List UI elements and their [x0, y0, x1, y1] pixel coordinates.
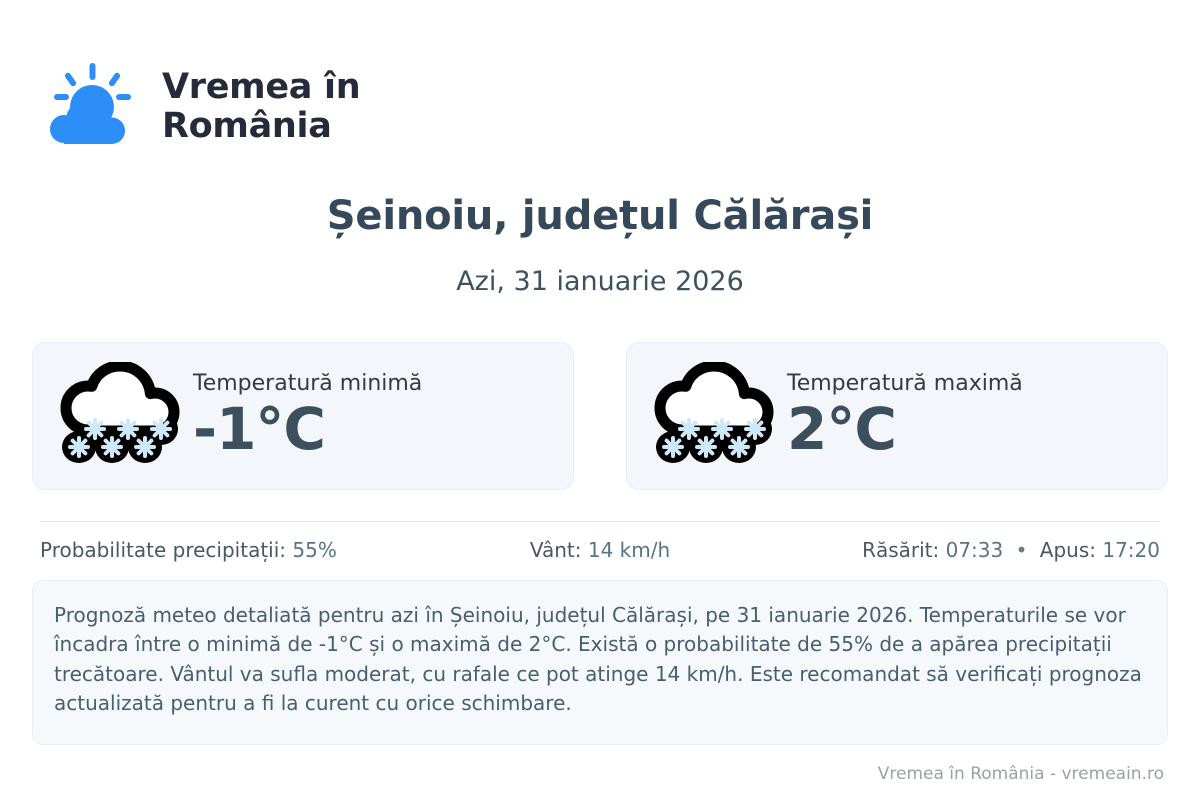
footer-credit: Vremea în România - vremeain.ro [878, 764, 1164, 784]
sun-times-stat: Răsărit: 07:33 • Apus: 17:20 [787, 538, 1160, 562]
sunrise-label: Răsărit: [862, 538, 939, 562]
precipitation-label: Probabilitate precipitații: [40, 538, 286, 562]
brand-title-line1: Vremea în [162, 68, 360, 107]
max-temperature-value: 2°C [787, 398, 1023, 461]
sunrise-value: 07:33 [946, 538, 1004, 562]
wind-label: Vânt: [530, 538, 582, 562]
wind-stat: Vânt: 14 km/h [413, 538, 786, 562]
page-subtitle-date: Azi, 31 ianuarie 2026 [0, 266, 1200, 297]
precipitation-stat: Probabilitate precipitații: 55% [40, 538, 413, 562]
max-temperature-body: Temperatură maximă 2°C [775, 372, 1023, 461]
snow-cloud-icon [649, 362, 775, 470]
sunset-label: Apus: [1040, 538, 1096, 562]
min-temperature-value: -1°C [193, 398, 422, 461]
forecast-description: Prognoză meteo detaliată pentru azi în Ș… [32, 580, 1168, 745]
snow-cloud-icon [55, 362, 181, 470]
brand-title-line2: România [162, 107, 360, 146]
sun-behind-cloud-icon [40, 55, 144, 159]
max-temperature-card: Temperatură maximă 2°C [626, 342, 1168, 490]
stat-separator: • [1010, 538, 1034, 562]
min-temperature-card: Temperatură minimă -1°C [32, 342, 574, 490]
site-logo[interactable]: Vremea în România [40, 55, 360, 159]
wind-value: 14 km/h [588, 538, 670, 562]
sunset-value: 17:20 [1102, 538, 1160, 562]
min-temperature-label: Temperatură minimă [193, 372, 422, 396]
weather-stats-row: Probabilitate precipitații: 55% Vânt: 14… [40, 538, 1160, 562]
page-title: Șeinoiu, județul Călărași [0, 193, 1200, 239]
min-temperature-body: Temperatură minimă -1°C [181, 372, 422, 461]
weather-forecast-page: Vremea în România Șeinoiu, județul Călăr… [0, 0, 1200, 800]
temperature-cards: Temperatură minimă -1°C [32, 342, 1168, 490]
brand-title: Vremea în România [162, 68, 360, 146]
section-divider [40, 521, 1160, 522]
max-temperature-label: Temperatură maximă [787, 372, 1023, 396]
precipitation-value: 55% [292, 538, 336, 562]
